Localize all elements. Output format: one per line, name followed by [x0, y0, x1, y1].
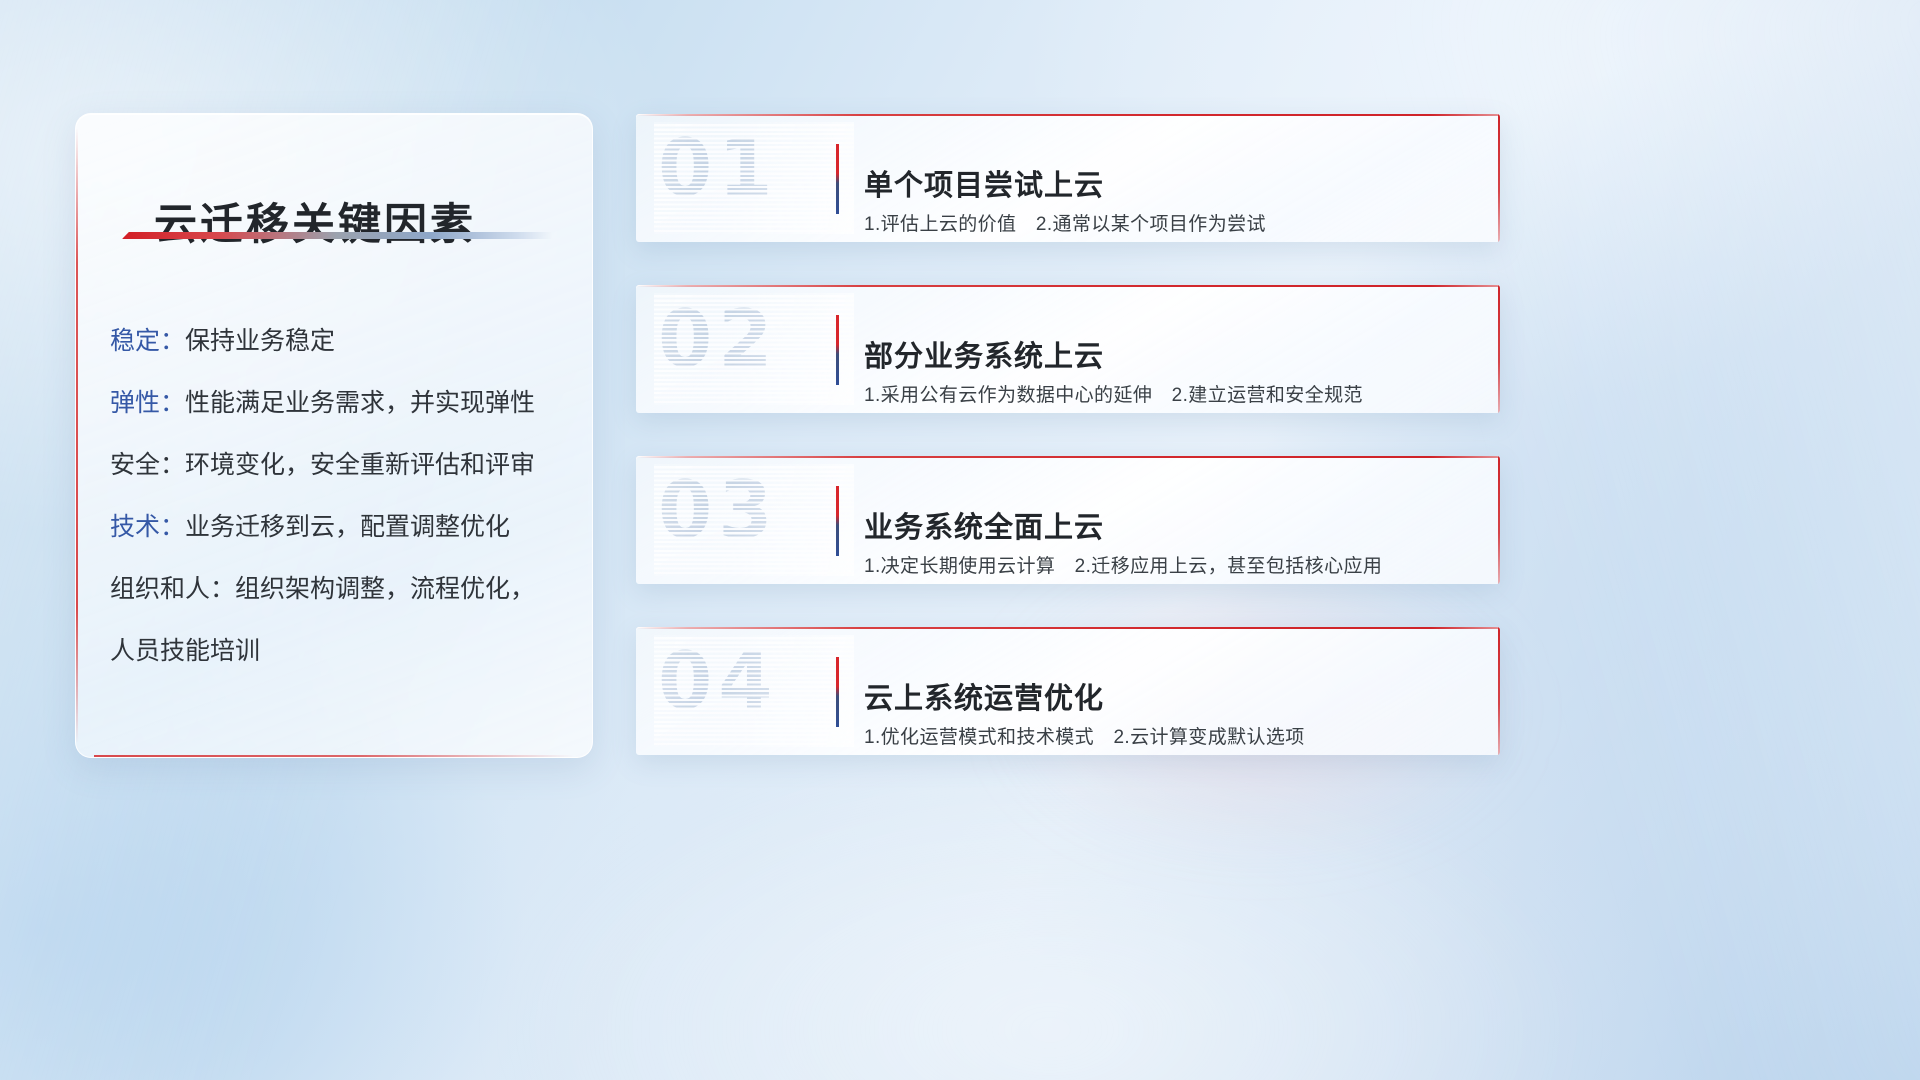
card-title: 业务系统全面上云	[864, 504, 1104, 546]
factor-item-organization-people: 组织和人：组织架构调整，流程优化，	[110, 558, 568, 620]
factor-text: 组织架构调整，流程优化，	[235, 575, 535, 603]
card-description: 1.评估上云的价值 2.通常以某个项目作为尝试	[864, 209, 1266, 236]
factor-text: 保持业务稳定	[185, 327, 335, 355]
migration-stage-card-list: 01 单个项目尝试上云 1.评估上云的价值 2.通常以某个项目作为尝试 02 部…	[636, 114, 1500, 798]
card-number-watermark: 01	[654, 122, 854, 234]
card-description: 1.采用公有云作为数据中心的延伸 2.建立运营和安全规范	[864, 380, 1363, 407]
stage-card-04[interactable]: 04 云上系统运营优化 1.优化运营模式和技术模式 2.云计算变成默认选项	[636, 627, 1500, 755]
card-divider-bar	[836, 315, 839, 385]
card-description: 1.优化运营模式和技术模式 2.云计算变成默认选项	[864, 722, 1305, 749]
factor-text: 环境变化，安全重新评估和评审	[185, 451, 535, 479]
card-number-fade-overlay	[654, 635, 854, 747]
slide-canvas: 云迁移关键因素 稳定：保持业务稳定 弹性：性能满足业务需求，并实现弹性 安全：环…	[0, 0, 1920, 1080]
card-top-accent-rule	[636, 285, 1500, 287]
card-number-fade-overlay	[654, 464, 854, 576]
title-underline-gradient	[122, 232, 552, 239]
factor-item-technology: 技术：业务迁移到云，配置调整优化	[110, 496, 568, 558]
key-factors-panel: 云迁移关键因素 稳定：保持业务稳定 弹性：性能满足业务需求，并实现弹性 安全：环…	[75, 113, 593, 758]
factor-item-organization-people-continuation: 人员技能培训	[110, 620, 568, 682]
factor-item-security: 安全：环境变化，安全重新评估和评审	[110, 434, 568, 496]
card-number-watermark: 03	[654, 464, 854, 576]
factor-label: 弹性：	[110, 389, 185, 417]
factor-text: 性能满足业务需求，并实现弹性	[185, 389, 535, 417]
card-right-accent-rule	[1498, 456, 1500, 584]
factor-item-stability: 稳定：保持业务稳定	[110, 310, 568, 372]
stage-card-01[interactable]: 01 单个项目尝试上云 1.评估上云的价值 2.通常以某个项目作为尝试	[636, 114, 1500, 242]
card-right-accent-rule	[1498, 285, 1500, 413]
stage-card-02[interactable]: 02 部分业务系统上云 1.采用公有云作为数据中心的延伸 2.建立运营和安全规范	[636, 285, 1500, 413]
card-divider-bar	[836, 486, 839, 556]
card-description: 1.决定长期使用云计算 2.迁移应用上云，甚至包括核心应用	[864, 551, 1382, 578]
card-divider-bar	[836, 657, 839, 727]
card-number-fade-overlay	[654, 293, 854, 405]
card-number-watermark: 02	[654, 293, 854, 405]
card-top-accent-rule	[636, 627, 1500, 629]
card-right-accent-rule	[1498, 114, 1500, 242]
card-title: 云上系统运营优化	[864, 675, 1104, 717]
factor-label: 组织和人：	[110, 575, 235, 603]
factor-label: 稳定：	[110, 327, 185, 355]
panel-title: 云迁移关键因素	[154, 190, 476, 252]
card-top-accent-rule	[636, 114, 1500, 116]
factor-label: 安全：	[110, 451, 185, 479]
card-divider-bar	[836, 144, 839, 214]
card-number-watermark: 04	[654, 635, 854, 747]
factor-label: 技术：	[110, 513, 185, 541]
card-number-fade-overlay	[654, 122, 854, 234]
factor-list: 稳定：保持业务稳定 弹性：性能满足业务需求，并实现弹性 安全：环境变化，安全重新…	[110, 310, 568, 682]
card-right-accent-rule	[1498, 627, 1500, 755]
factor-text: 业务迁移到云，配置调整优化	[185, 513, 510, 541]
card-title: 单个项目尝试上云	[864, 162, 1104, 204]
card-top-accent-rule	[636, 456, 1500, 458]
factor-item-elasticity: 弹性：性能满足业务需求，并实现弹性	[110, 372, 568, 434]
stage-card-03[interactable]: 03 业务系统全面上云 1.决定长期使用云计算 2.迁移应用上云，甚至包括核心应…	[636, 456, 1500, 584]
card-title: 部分业务系统上云	[864, 333, 1104, 375]
